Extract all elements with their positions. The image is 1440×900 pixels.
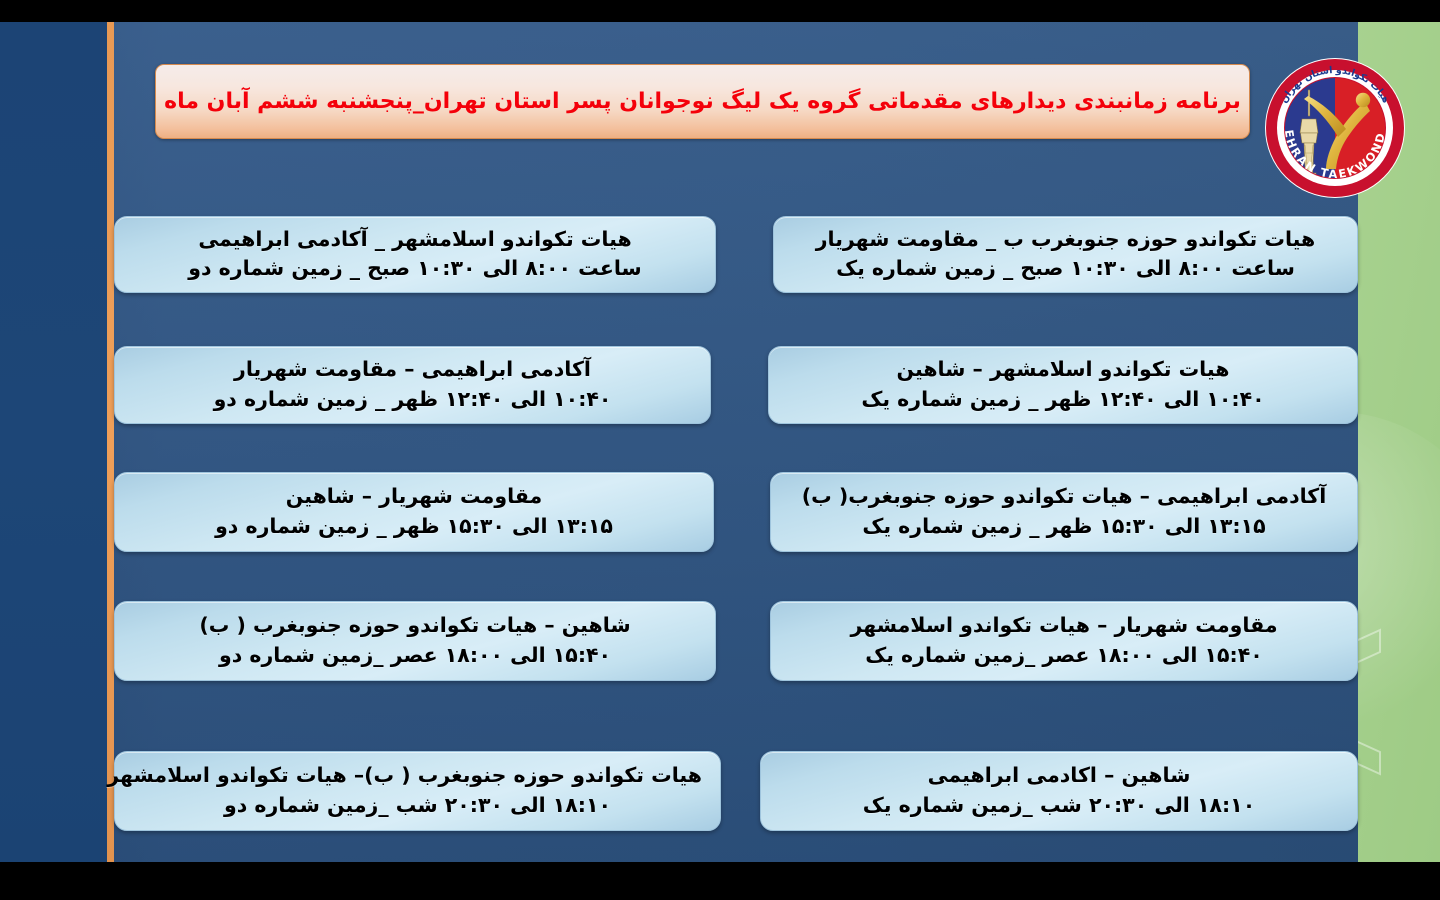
match-teams: هیات تکواندو حوزه جنوبغرب ( ب)– هیات تکو… — [133, 761, 702, 790]
match-time-venue: ۱۵:۴۰ الی ۱۸:۰۰ عصر _زمین شماره یک — [789, 641, 1339, 670]
match-teams: شاهین – اکادمی ابراهیمی — [779, 761, 1339, 790]
schedule-row-3: آکادمی ابراهیمی – هیات تکواندو حوزه جنوب… — [114, 472, 1358, 552]
match-teams: مقاومت شهریار – هیات تکواندو اسلامشهر — [789, 611, 1339, 640]
match-card-2-field-two[interactable]: آکادمی ابراهیمی – مقاومت شهریار ۱۰:۴۰ ال… — [114, 346, 711, 424]
schedule-grid: هیات تکواندو حوزه جنوبغرب ب _ مقاومت شهر… — [114, 22, 1358, 862]
match-time-venue: ۱۸:۱۰ الی ۲۰:۳۰ شب _زمین شماره دو — [133, 791, 702, 820]
match-time-venue: ساعت ۸:۰۰ الی ۱۰:۳۰ صبح _ زمین شماره دو — [133, 254, 697, 283]
match-teams: شاهین – هیات تکواندو حوزه جنوبغرب ( ب) — [133, 611, 697, 640]
match-teams: آکادمی ابراهیمی – هیات تکواندو حوزه جنوب… — [789, 482, 1339, 511]
match-card-5-field-one[interactable]: شاهین – اکادمی ابراهیمی ۱۸:۱۰ الی ۲۰:۳۰ … — [760, 751, 1358, 831]
schedule-row-4: مقاومت شهریار – هیات تکواندو اسلامشهر ۱۵… — [114, 601, 1358, 681]
panel-orange-rule — [107, 22, 114, 862]
match-card-4-field-two[interactable]: شاهین – هیات تکواندو حوزه جنوبغرب ( ب) ۱… — [114, 601, 716, 681]
match-card-1-field-two[interactable]: هیات تکواندو اسلامشهر _ آکادمی ابراهیمی … — [114, 216, 716, 293]
schedule-row-1: هیات تکواندو حوزه جنوبغرب ب _ مقاومت شهر… — [114, 216, 1358, 293]
match-teams: آکادمی ابراهیمی – مقاومت شهریار — [133, 355, 692, 384]
match-time-venue: ۱۰:۴۰ الی ۱۲:۴۰ ظهر _ زمین شماره دو — [133, 385, 692, 414]
match-card-3-field-two[interactable]: مقاومت شهریار – شاهین ۱۳:۱۵ الی ۱۵:۳۰ ظه… — [114, 472, 714, 552]
schedule-row-2: هیات تکواندو اسلامشهر – شاهین ۱۰:۴۰ الی … — [114, 346, 1358, 424]
match-teams: هیات تکواندو اسلامشهر _ آکادمی ابراهیمی — [133, 225, 697, 254]
match-card-1-field-one[interactable]: هیات تکواندو حوزه جنوبغرب ب _ مقاومت شهر… — [773, 216, 1358, 293]
match-time-venue: ساعت ۸:۰۰ الی ۱۰:۳۰ صبح _ زمین شماره یک — [792, 254, 1339, 283]
match-card-4-field-one[interactable]: مقاومت شهریار – هیات تکواندو اسلامشهر ۱۵… — [770, 601, 1358, 681]
match-time-venue: ۱۸:۱۰ الی ۲۰:۳۰ شب _زمین شماره یک — [779, 791, 1339, 820]
match-card-5-field-two[interactable]: هیات تکواندو حوزه جنوبغرب ( ب)– هیات تکو… — [114, 751, 721, 831]
match-card-3-field-one[interactable]: آکادمی ابراهیمی – هیات تکواندو حوزه جنوب… — [770, 472, 1358, 552]
match-teams: هیات تکواندو اسلامشهر – شاهین — [787, 355, 1339, 384]
match-teams: مقاومت شهریار – شاهین — [133, 482, 695, 511]
match-card-2-field-one[interactable]: هیات تکواندو اسلامشهر – شاهین ۱۰:۴۰ الی … — [768, 346, 1358, 424]
match-time-venue: ۱۰:۴۰ الی ۱۲:۴۰ ظهر _ زمین شماره یک — [787, 385, 1339, 414]
slide-canvas: برنامه زمانبندی دیدارهای مقدماتی گروه یک… — [0, 22, 1440, 862]
match-time-venue: ۱۳:۱۵ الی ۱۵:۳۰ ظهر _ زمین شماره یک — [789, 512, 1339, 541]
match-teams: هیات تکواندو حوزه جنوبغرب ب _ مقاومت شهر… — [792, 225, 1339, 254]
panel-left-band — [0, 22, 107, 862]
match-time-venue: ۱۵:۴۰ الی ۱۸:۰۰ عصر _زمین شماره دو — [133, 641, 697, 670]
schedule-row-5: شاهین – اکادمی ابراهیمی ۱۸:۱۰ الی ۲۰:۳۰ … — [114, 751, 1358, 831]
match-time-venue: ۱۳:۱۵ الی ۱۵:۳۰ ظهر _ زمین شماره دو — [133, 512, 695, 541]
